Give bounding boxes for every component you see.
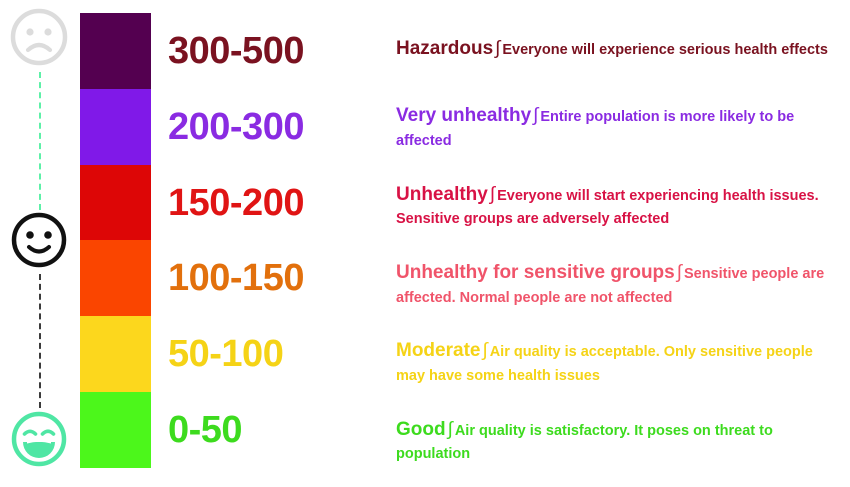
range-label-moderate: 50-100 [168,335,283,373]
happy-face-icon [8,408,70,470]
range-label-hazardous: 300-500 [168,32,304,70]
range-row: 100-150 [168,240,383,316]
category-title-sensitive: Unhealthy for sensitive groups [396,262,675,283]
category-title-very-unhealthy: Very unhealthy [396,105,531,126]
connector-line-top [39,72,41,210]
separator-icon: ∫ [531,105,540,126]
range-label-unhealthy: 150-200 [168,184,304,222]
range-row: 300-500 [168,13,383,89]
separator-icon: ∫ [675,262,684,283]
color-band-very-unhealthy [80,89,151,165]
color-band-moderate [80,316,151,392]
range-row: 200-300 [168,89,383,165]
range-row: 50-100 [168,316,383,392]
sad-face-icon [8,6,70,68]
range-row: 150-200 [168,165,383,241]
separator-icon: ∫ [488,184,497,205]
range-row: 0-50 [168,392,383,468]
color-band-hazardous [80,13,151,89]
category-title-good: Good [396,419,446,440]
description-row-moderate: Moderate∫Air quality is acceptable. Only… [396,323,844,401]
separator-icon: ∫ [480,340,489,361]
category-title-hazardous: Hazardous [396,38,493,59]
description-row-unhealthy: Unhealthy∫Everyone will start experienci… [396,167,844,245]
category-description-hazardous: Everyone will experience serious health … [502,42,828,58]
description-row-good: Good∫Air quality is satisfactory. It pos… [396,402,844,480]
category-title-moderate: Moderate [396,340,480,361]
color-band-sensitive [80,240,151,316]
gauge-column [0,0,80,487]
range-label-good: 0-50 [168,411,242,449]
range-label-sensitive: 100-150 [168,259,304,297]
color-band-good [80,392,151,468]
connector-line-bottom [39,274,41,408]
separator-icon: ∫ [493,38,502,59]
description-row-hazardous: Hazardous∫Everyone will experience serio… [396,10,844,88]
description-column: Hazardous∫Everyone will experience serio… [396,10,844,480]
category-title-unhealthy: Unhealthy [396,184,488,205]
neutral-face-icon [8,209,70,271]
range-label-column: 300-500 200-300 150-200 100-150 50-100 0… [168,13,383,468]
description-row-very-unhealthy: Very unhealthy∫Entire population is more… [396,88,844,166]
separator-icon: ∫ [446,419,455,440]
description-row-sensitive: Unhealthy for sensitive groups∫Sensitive… [396,245,844,323]
range-label-very-unhealthy: 200-300 [168,108,304,146]
aqi-infographic: 300-500 200-300 150-200 100-150 50-100 0… [0,0,850,487]
aqi-color-bar [80,13,151,468]
color-band-unhealthy [80,165,151,241]
